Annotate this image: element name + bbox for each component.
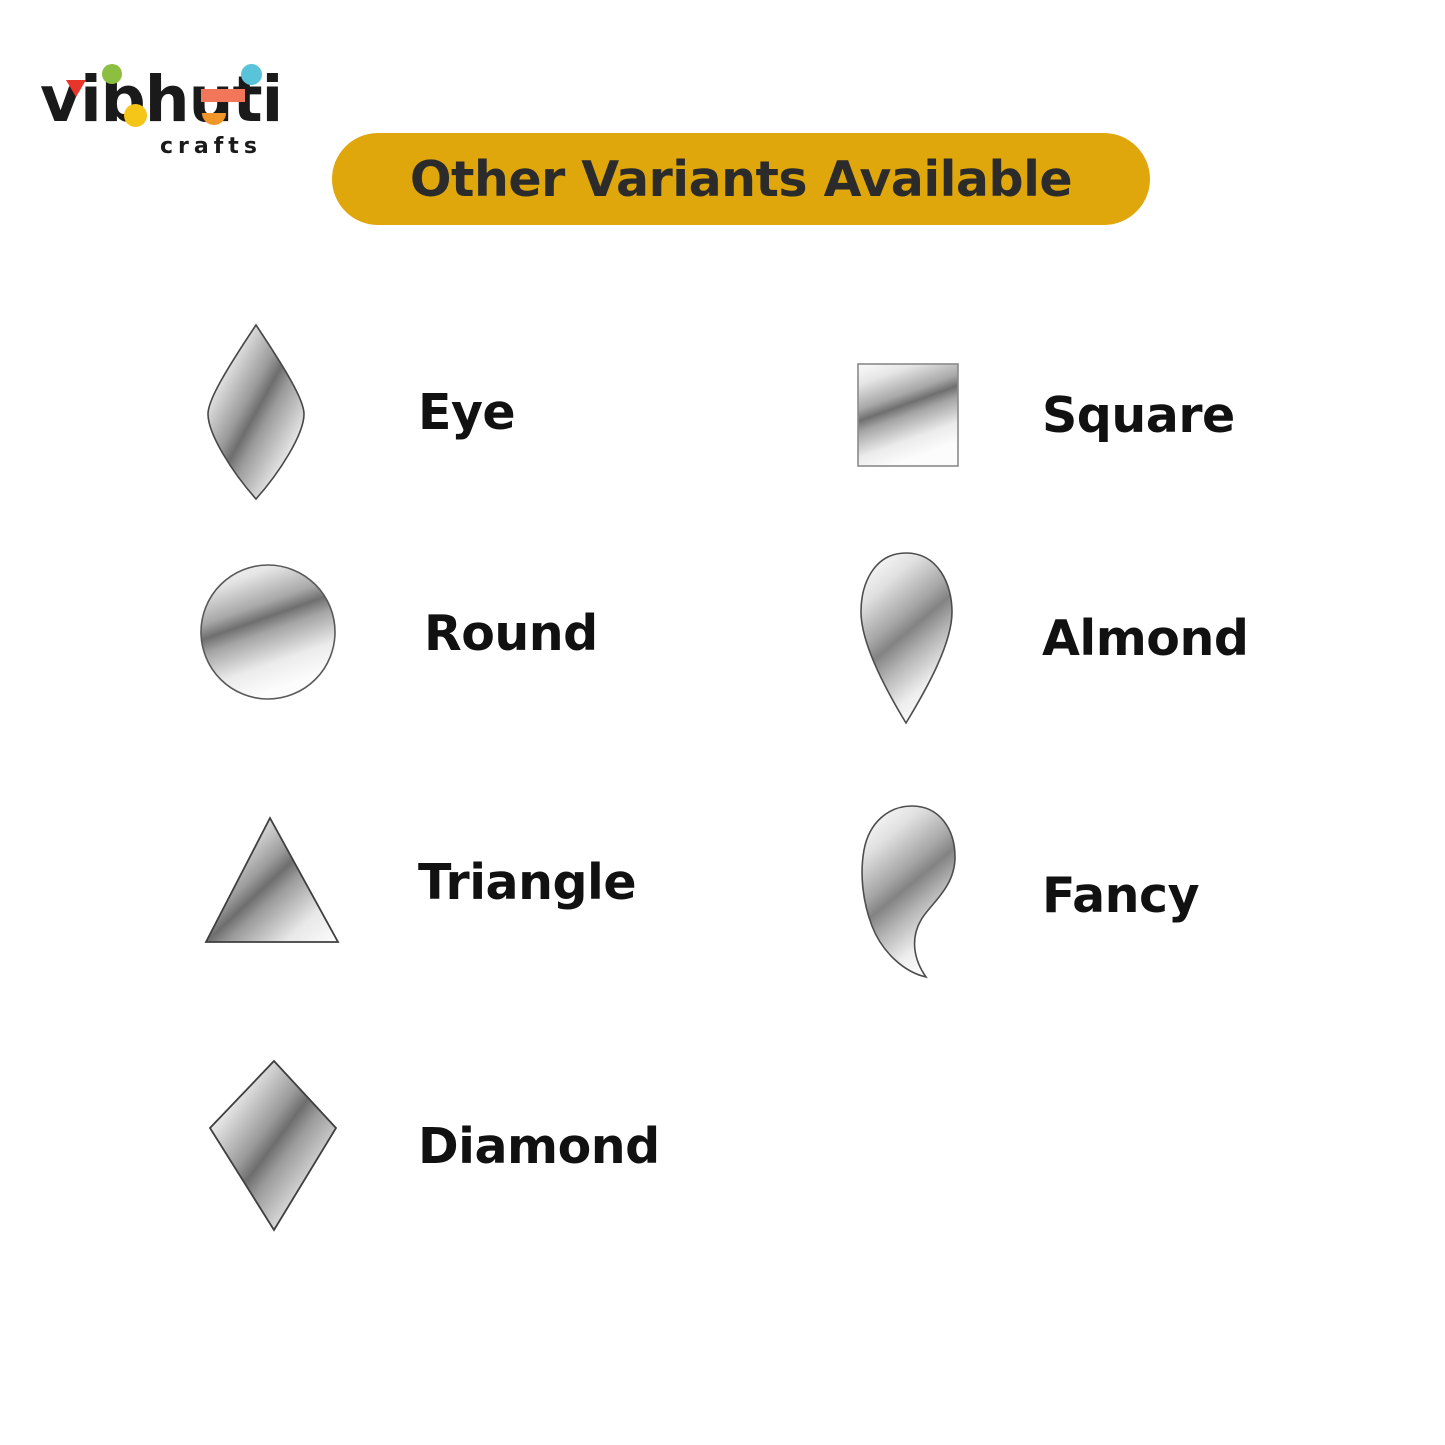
variant-label-diamond: Diamond (418, 1118, 660, 1175)
almond-shape-icon (852, 548, 962, 728)
logo-green-dot-icon (102, 64, 122, 84)
logo-orange-bar-mark (201, 89, 245, 102)
fancy-paisley-shape-icon (852, 800, 962, 990)
brand-logo: vibhuti crafts (40, 58, 300, 168)
variant-item-almond[interactable]: Almond (852, 548, 1248, 728)
variant-label-eye: Eye (418, 384, 515, 441)
variant-label-almond: Almond (1042, 610, 1248, 667)
variants-infographic: vibhuti crafts Other Variants Available (0, 0, 1445, 1445)
variant-label-square: Square (1042, 387, 1235, 444)
variant-item-triangle[interactable]: Triangle (198, 812, 636, 952)
page-title-banner: Other Variants Available (332, 133, 1150, 225)
variant-label-triangle: Triangle (418, 854, 636, 911)
page-title: Other Variants Available (410, 151, 1072, 208)
brand-tagline: crafts (160, 136, 262, 158)
variant-item-diamond[interactable]: Diamond (198, 1056, 660, 1236)
variant-item-fancy[interactable]: Fancy (852, 800, 1199, 990)
variant-item-round[interactable]: Round (198, 560, 598, 706)
diamond-shape-icon (198, 1056, 348, 1236)
triangle-shape-icon (198, 812, 348, 952)
logo-cyan-dot-icon (241, 64, 262, 85)
logo-yellow-dot-icon (124, 104, 147, 127)
square-shape-icon (852, 360, 962, 470)
round-shape-icon (198, 560, 344, 706)
logo-red-triangle-mark (66, 80, 86, 97)
eye-shape-icon (200, 322, 312, 502)
variant-label-fancy: Fancy (1042, 867, 1199, 924)
variant-item-square[interactable]: Square (852, 360, 1235, 470)
variant-item-eye[interactable]: Eye (200, 322, 515, 502)
variant-label-round: Round (424, 605, 598, 662)
